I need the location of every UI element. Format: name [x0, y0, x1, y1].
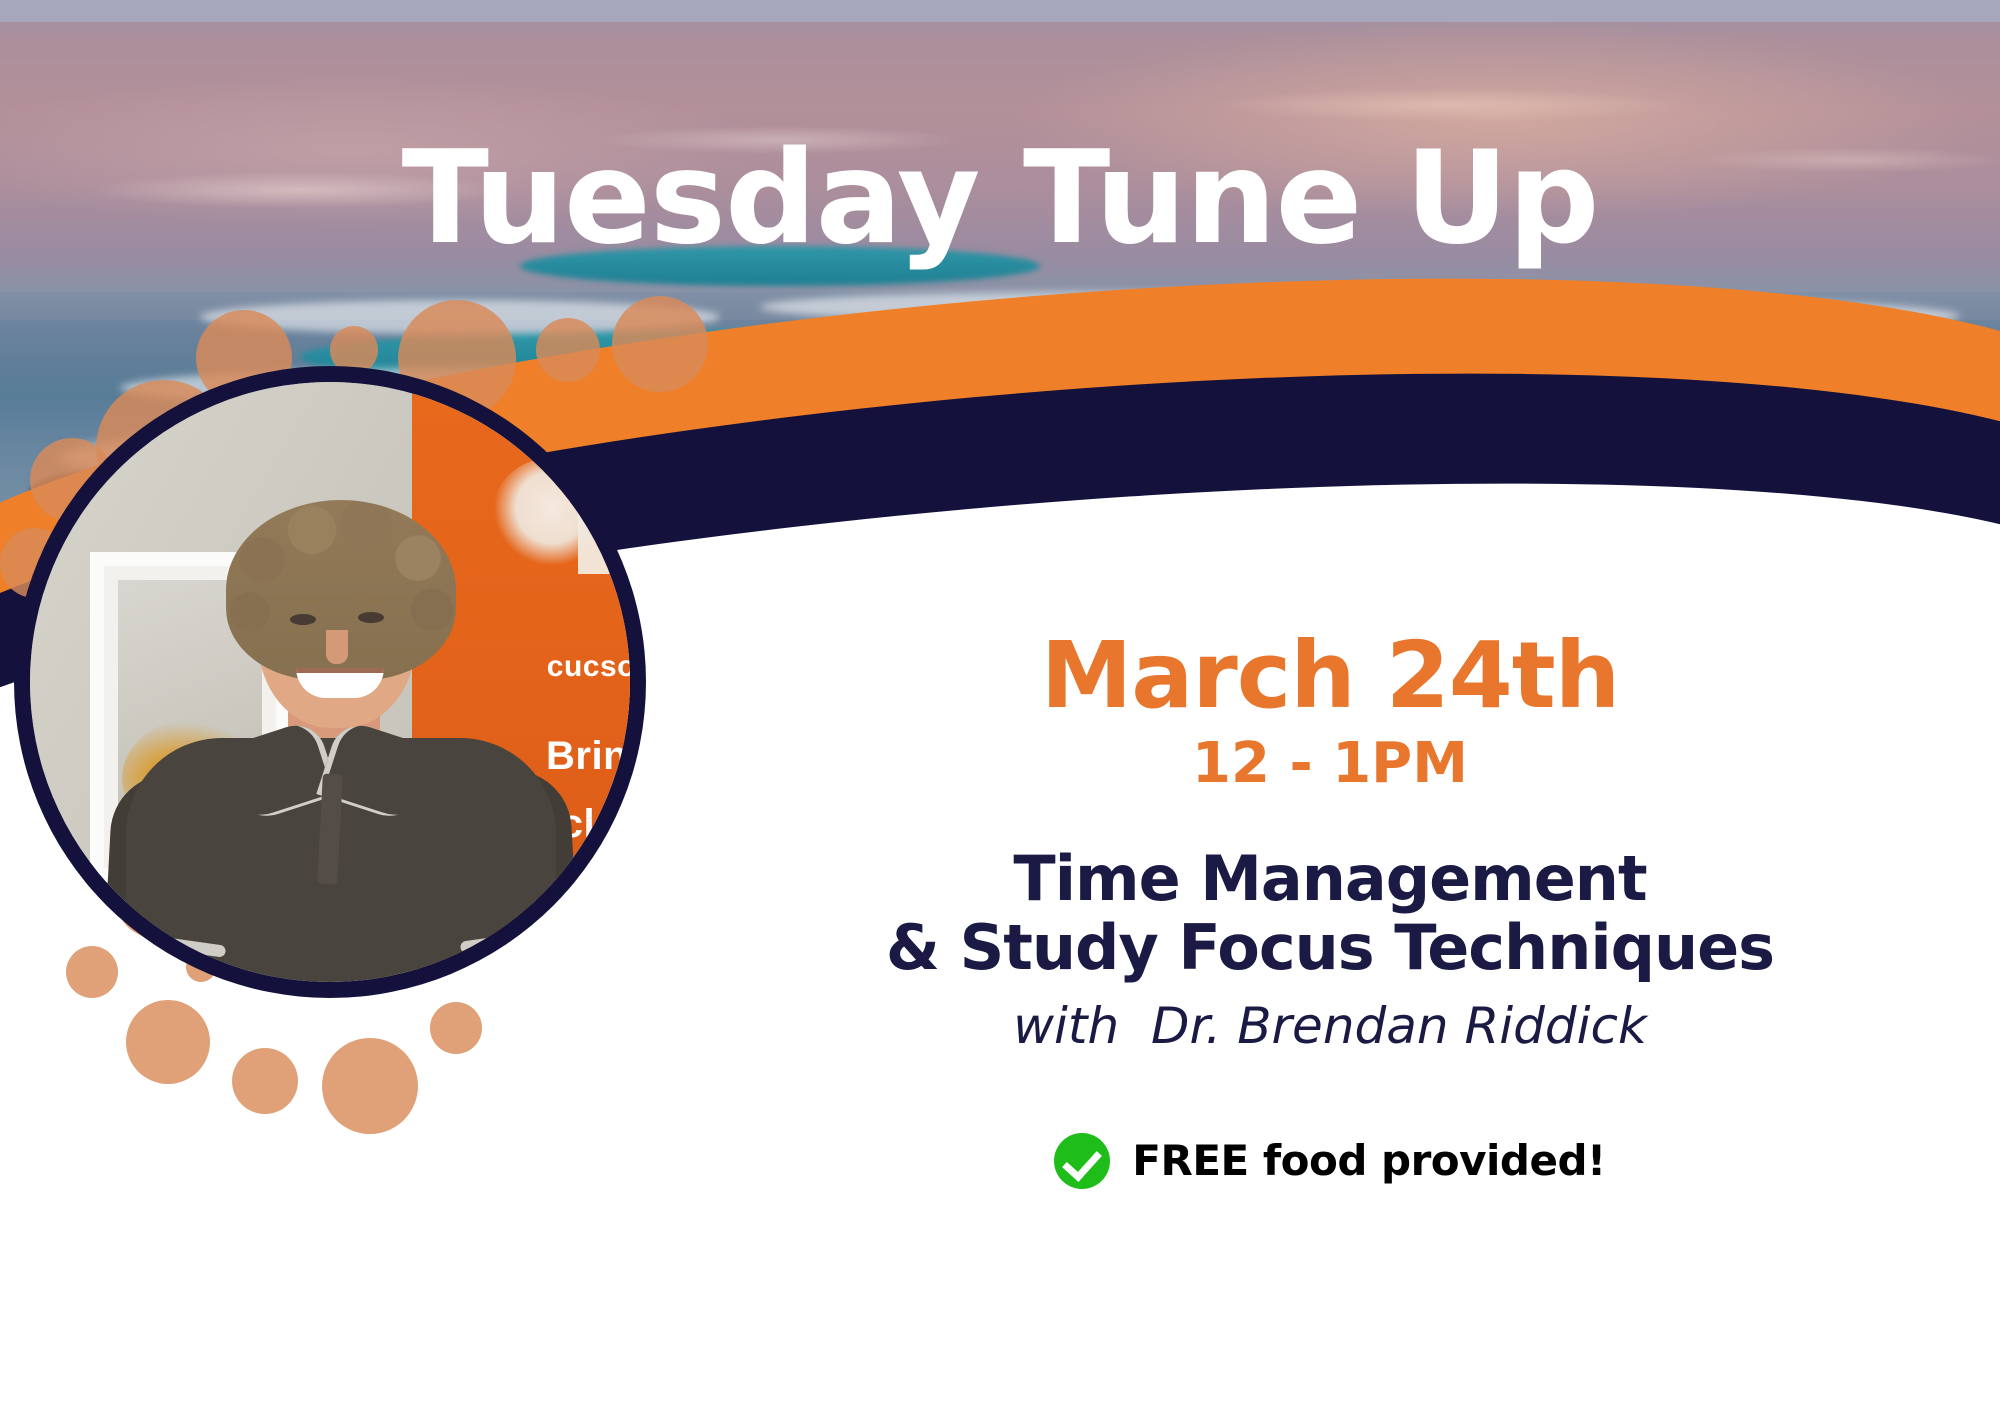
- free-food-row: FREE food provided!: [780, 1133, 1880, 1189]
- flyer-canvas: cucso Brin clo: [0, 0, 2000, 1414]
- event-topic-line-1: Time Management: [780, 844, 1880, 913]
- event-date: March 24th: [780, 630, 1880, 722]
- event-details: March 24th 12 - 1PM Time Management & St…: [780, 630, 1880, 1189]
- top-grey-strip: [0, 0, 2000, 22]
- wave-crest: [200, 300, 720, 334]
- free-food-label: FREE food provided!: [1132, 1136, 1605, 1185]
- eye-right: [358, 612, 384, 623]
- speaker-photo: cucso Brin clo: [30, 382, 630, 982]
- speaker-photo-ring: cucso Brin clo: [14, 366, 646, 998]
- speaker-name: with Dr. Brendan Riddick: [780, 997, 1880, 1055]
- event-time: 12 - 1PM: [780, 736, 1880, 792]
- person-figure: [30, 382, 630, 982]
- eye-left: [290, 614, 316, 625]
- page-title: Tuesday Tune Up: [0, 132, 2000, 266]
- nose: [326, 630, 348, 664]
- event-topic: Time Management & Study Focus Techniques: [780, 844, 1880, 983]
- check-circle-icon: [1054, 1133, 1110, 1189]
- event-topic-line-2: & Study Focus Techniques: [780, 913, 1880, 982]
